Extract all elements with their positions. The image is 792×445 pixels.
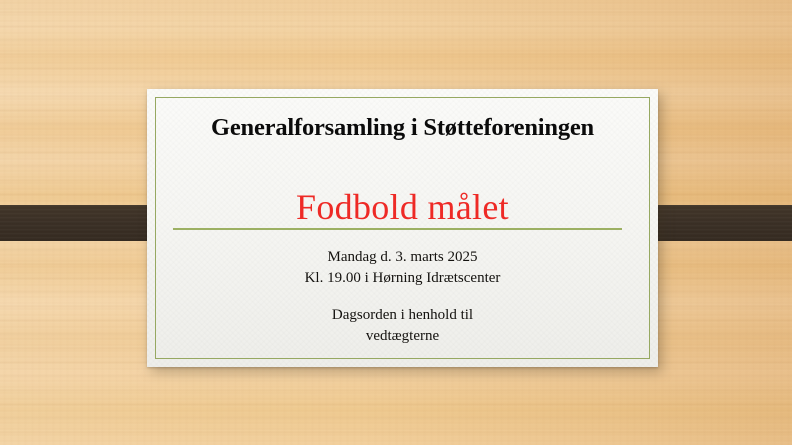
body-line-agenda-1: Dagsorden i henhold til: [167, 305, 638, 326]
body-spacer: [167, 290, 638, 305]
slide-title: Generalforsamling i Støtteforeningen: [167, 115, 638, 142]
title-divider: [173, 228, 622, 230]
body-line-venue: Kl. 19.00 i Hørning Idrætscenter: [167, 268, 638, 289]
slide-body: Mandag d. 3. marts 2025 Kl. 19.00 i Hørn…: [167, 247, 638, 347]
body-line-agenda-2: vedtægterne: [167, 326, 638, 347]
presentation-slide: Generalforsamling i Støtteforeningen Fod…: [0, 0, 792, 445]
slide-card: Generalforsamling i Støtteforeningen Fod…: [147, 89, 658, 367]
decorative-band-left: [0, 205, 160, 241]
card-content: Generalforsamling i Støtteforeningen Fod…: [147, 89, 658, 367]
slide-subtitle: Fodbold målet: [167, 189, 638, 225]
body-line-date: Mandag d. 3. marts 2025: [167, 247, 638, 268]
